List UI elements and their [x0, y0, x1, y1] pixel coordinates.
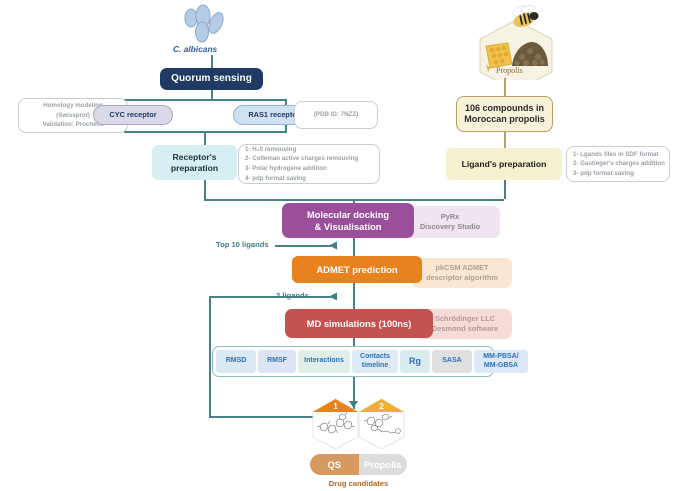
note-line: 3- pdp format saving — [573, 169, 663, 179]
metric-label: SASA — [442, 357, 461, 365]
note-pdb-id: (PDB ID: 7NZZ) — [294, 101, 378, 129]
yeast-cells-icon — [178, 4, 234, 44]
candida-label: C. albicans — [173, 44, 217, 54]
capsule-label-qs: QS — [327, 459, 341, 470]
note-line: 1- Lgands files in SDF format — [573, 150, 663, 160]
connector-receptor-bus — [124, 99, 287, 101]
label-two-ligands: 2 ligands — [276, 291, 309, 300]
note-line: 4- pdp format saving — [245, 174, 373, 184]
note-line: (Swissprot) — [56, 111, 90, 121]
propolis-label: Propolis — [496, 66, 523, 75]
connector-join-recprep — [204, 131, 206, 145]
note-line: 3- Polar hydrogene addition — [245, 164, 373, 174]
metric-label: Rg — [409, 356, 421, 366]
metric-label: MM-GBSA — [484, 362, 518, 370]
node-label-line: 106 compounds in — [465, 103, 544, 114]
node-label-line: Moroccan propolis — [464, 114, 545, 125]
label-top10-ligands: Top 10 ligands — [216, 240, 269, 249]
note-receptor-steps: 1- H₂0 remouving 2- Colleman active char… — [238, 144, 380, 184]
node-ligand-preparation[interactable]: Ligand's preparation — [446, 148, 562, 180]
node-label-line: & Visualisation — [314, 221, 381, 232]
sidecard-line: pkCSM ADMET — [435, 263, 488, 273]
metric-contacts-timeline[interactable]: Contacts timeline — [352, 350, 398, 373]
feedback-line-vertical — [209, 296, 211, 418]
node-quorum-sensing[interactable]: Quorum sensing — [160, 68, 263, 90]
metric-rmsf[interactable]: RMSF — [258, 350, 296, 373]
note-line: (PDB ID: 7NZZ) — [314, 110, 358, 120]
sidecard-line: descriptor algorithm — [426, 273, 498, 283]
arrow-rail-top10 — [275, 245, 333, 247]
node-md-simulations[interactable]: MD simulations (100ns) — [285, 309, 433, 338]
sidecard-admet-tool: pkCSM ADMET descriptor algorithm — [412, 258, 512, 288]
drug-candidates-caption: Drug candidates — [310, 479, 407, 488]
note-line: Validation: Procheck — [43, 120, 104, 130]
metric-sasa[interactable]: SASA — [432, 350, 472, 373]
connector-recprep-down — [204, 180, 206, 199]
metric-label: RMSD — [226, 357, 247, 365]
metric-mmpbsa-mmgbsa[interactable]: MM-PBSA/ MM-GBSA — [474, 350, 528, 373]
metric-rmsd[interactable]: RMSD — [216, 350, 256, 373]
sidecard-line: Discovery Studio — [420, 222, 480, 232]
connector-compounds-ligprep — [504, 132, 506, 148]
node-receptor-preparation[interactable]: Receptor's preparation — [152, 145, 237, 180]
metric-label: timeline — [362, 362, 388, 370]
sidecard-line: Desmond software — [432, 324, 498, 334]
note-line: 2- Gastieger's charges addition — [573, 159, 663, 169]
workflow-diagram: C. albicans — [0, 0, 685, 491]
sidecard-docking-tools: PyRx Discovery Studio — [400, 206, 500, 238]
metric-label: MM-PBSA/ — [483, 353, 518, 361]
connector-admet-md — [353, 283, 355, 309]
connector-quorum-down — [211, 90, 213, 99]
note-line: 2- Colleman active charges remouving — [245, 154, 373, 164]
capsule-half-propolis: Propolis — [359, 454, 408, 475]
node-label-line: Receptor's — [172, 152, 216, 162]
sidecard-line: Schrödinger LLC — [435, 314, 495, 324]
candidate-number-2: 2 — [358, 402, 405, 411]
note-ligand-steps: 1- Lgands files in SDF format 2- Gastieg… — [566, 146, 670, 182]
capsule-half-qs: QS — [310, 454, 359, 475]
connector-candida-quorum — [211, 55, 213, 69]
sidecard-line: PyRx — [441, 212, 460, 222]
qs-propolis-capsule[interactable]: QS Propolis — [310, 454, 407, 475]
capsule-label-propolis: Propolis — [364, 459, 402, 470]
connector-ligprep-down — [504, 180, 506, 199]
connector-propolis-compounds — [504, 78, 506, 96]
node-label-line: Molecular docking — [307, 209, 389, 220]
note-line: 1- H₂0 remouving — [245, 145, 373, 155]
node-admet-prediction[interactable]: ADMET prediction — [292, 256, 422, 283]
node-molecular-docking[interactable]: Molecular docking & Visualisation — [282, 203, 414, 238]
node-compounds[interactable]: 106 compounds in Moroccan propolis — [456, 96, 553, 132]
candidate-number-1: 1 — [312, 402, 359, 411]
metric-rg[interactable]: Rg — [400, 350, 430, 373]
connector-docking-admet — [353, 238, 355, 256]
node-label-line: preparation — [171, 163, 218, 173]
feedback-line-top — [209, 296, 271, 298]
metric-label: RMSF — [267, 357, 287, 365]
metric-label: Interactions — [304, 357, 344, 365]
metric-interactions[interactable]: Interactions — [298, 350, 350, 373]
metrics-strip: RMSD RMSF Interactions Contacts timeline… — [212, 346, 494, 377]
node-cyc-receptor[interactable]: CYC receptor — [93, 105, 173, 125]
metric-label: Contacts — [360, 353, 390, 361]
